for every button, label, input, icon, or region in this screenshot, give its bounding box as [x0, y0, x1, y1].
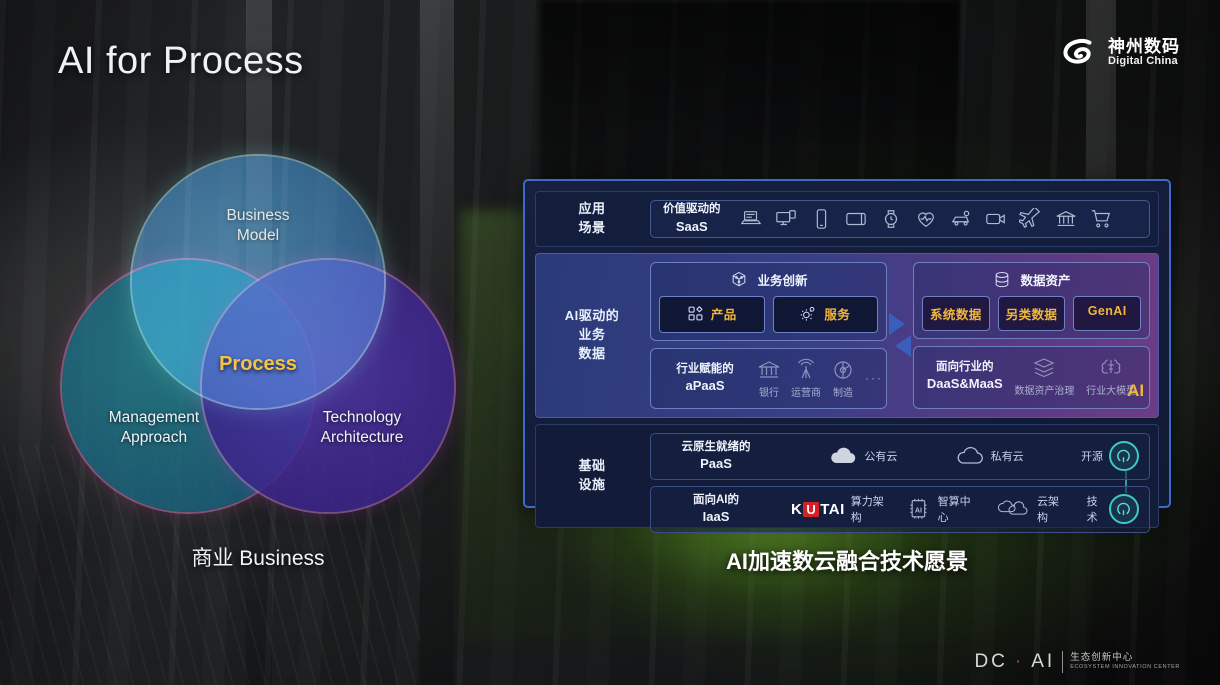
label-daas-maas: 面向行业的 DaaS&MaaS	[927, 360, 1003, 393]
band-title-ai-data: AI驱动的 业务 数据	[540, 262, 644, 409]
label-cloud-native-paas: 云原生就绪的 PaaS	[661, 440, 771, 473]
venn-label-management-line1: Management	[109, 409, 199, 426]
venn-center-label: Process	[192, 326, 324, 402]
band-title-application: 应用 场景	[540, 200, 644, 238]
svg-text:AI: AI	[915, 507, 922, 515]
infra-row-iaas: 面向AI的 IaaS KUTAI 算力架构 AI 智算中心	[650, 486, 1150, 533]
cloud-outline-icon	[955, 445, 985, 467]
daas-label-line1: 面向行业的	[927, 360, 1003, 376]
band-title-line2: 场景	[578, 220, 605, 235]
ai-chip-icon: AI	[905, 498, 932, 520]
industry-llm-ai-suffix: AI	[1127, 381, 1144, 401]
chip-service[interactable]: 服务	[773, 296, 879, 333]
footer-center-cn: 生态创新中心	[1070, 653, 1180, 664]
infra-public-cloud: 公有云	[828, 445, 897, 467]
open-source-icon	[1109, 494, 1139, 524]
infra-title-line1: 基础	[578, 458, 605, 473]
chip-product[interactable]: 产品	[659, 296, 765, 333]
ai-band-title-line2: 业务	[578, 327, 605, 342]
shopping-cart-icon	[1089, 208, 1113, 230]
mini-operator: 运营商	[791, 358, 821, 399]
airplane-icon	[1019, 208, 1043, 230]
band-application-scenarios: 应用 场景 价值驱动的 SaaS	[535, 191, 1159, 247]
footer-dc: DC	[974, 651, 1007, 673]
infra-ai-compute-center: AI 智算中心	[905, 493, 977, 525]
mini-governance-label: 数据资产治理	[1014, 382, 1074, 397]
venn-label-technology-line2: Architecture	[321, 429, 404, 446]
saas-label-line2: SaaS	[663, 218, 721, 236]
infra-row-paas: 云原生就绪的 PaaS 公有云 私有云 开源	[650, 433, 1150, 480]
panel-business-innovation: 业务创新 产品	[650, 262, 887, 341]
cloud-arch-label: 云架构	[1037, 493, 1067, 525]
architecture-caption: AI加速数云融合技术愿景	[523, 544, 1171, 576]
infra-technology: 技术	[1087, 493, 1139, 525]
multi-cloud-icon	[997, 498, 1031, 520]
layered-data-icon	[1032, 356, 1056, 380]
chip-service-label: 服务	[824, 304, 850, 323]
more-dots: ···	[865, 371, 883, 385]
band-infrastructure: 基础 设施 云原生就绪的 PaaS 公有云 私有云	[535, 424, 1159, 528]
saas-label-line1: 价值驱动的	[663, 202, 721, 218]
gears-icon	[800, 305, 817, 322]
footer-logo: DC · AI 生态创新中心 ECOSYSTEM INNOVATION CENT…	[974, 651, 1180, 673]
infra-cloud-arch: 云架构	[997, 493, 1067, 525]
swirl-logo-icon	[1061, 36, 1099, 70]
label-ai-oriented-iaas: 面向AI的 IaaS	[661, 493, 771, 526]
iaas-label-line2: IaaS	[661, 508, 771, 526]
ai-compute-center-label: 智算中心	[938, 493, 977, 525]
panel-industry-apaas: 行业赋能的 aPaaS 银行 运营商	[650, 348, 887, 409]
car-service-icon	[949, 208, 973, 230]
paas-label-line1: 云原生就绪的	[661, 440, 771, 456]
band-title-infrastructure: 基础 设施	[540, 433, 644, 519]
kutai-k: K	[791, 501, 802, 518]
mini-data-governance: 数据资产治理	[1014, 356, 1074, 397]
bank-icon	[1054, 208, 1078, 230]
bank-icon	[757, 358, 781, 382]
compute-arch-label: 算力架构	[851, 493, 885, 525]
desktop-monitor-icon	[774, 208, 798, 230]
chip-alternative-data[interactable]: 另类数据	[998, 296, 1066, 331]
smartwatch-icon	[879, 208, 903, 230]
heart-health-icon	[914, 208, 938, 230]
apaas-label-line2: aPaaS	[663, 377, 747, 395]
database-icon	[992, 270, 1012, 290]
kutai-u: U	[803, 502, 819, 517]
venn-label-business-line1: Business	[227, 207, 290, 224]
opensource-label: 开源	[1081, 448, 1103, 464]
band-ai-driven-business-data: AI驱动的 业务 数据	[535, 253, 1159, 418]
ai-band-title-line3: 数据	[578, 346, 605, 361]
label-value-driven-saas: 价值驱动的 SaaS	[663, 202, 721, 235]
data-assets-title: 数据资产	[1020, 270, 1070, 289]
factory-gear-icon	[831, 358, 855, 382]
brain-network-icon	[1099, 356, 1123, 380]
chip-product-label: 产品	[711, 304, 737, 323]
chip-genai[interactable]: GenAI	[1073, 296, 1141, 331]
footer-dot: ·	[1015, 651, 1024, 673]
panel-data-assets: 数据资产 系统数据 另类数据 GenAI	[913, 262, 1150, 339]
video-camera-icon	[984, 208, 1008, 230]
band-title-line1: 应用	[578, 201, 605, 216]
brand-name-cn: 神州数码	[1108, 38, 1180, 56]
public-cloud-label: 公有云	[864, 448, 897, 464]
apaas-label-line1: 行业赋能的	[663, 362, 747, 378]
panel-value-driven-saas: 价值驱动的 SaaS	[650, 200, 1150, 238]
daas-label-line2: DaaS&MaaS	[927, 375, 1003, 393]
infra-kutai-compute: KUTAI 算力架构	[791, 493, 885, 525]
signal-tower-icon	[794, 358, 818, 382]
footer-divider	[1062, 651, 1063, 673]
venn-label-technology-line1: Technology	[323, 409, 401, 426]
chip-system-data[interactable]: 系统数据	[922, 296, 990, 331]
cube-network-icon	[729, 270, 749, 290]
bidirectional-arrow-icon	[887, 307, 913, 363]
architecture-diagram: 应用 场景 价值驱动的 SaaS	[523, 179, 1171, 508]
kutai-logo: KUTAI	[791, 501, 845, 518]
mini-bank: 银行	[757, 358, 781, 399]
venn-caption: 商业 Business	[62, 542, 454, 572]
open-source-icon	[1109, 441, 1139, 471]
venn-diagram: Management Approach Technology Architect…	[62, 156, 454, 512]
mini-bank-label: 银行	[759, 384, 779, 399]
private-cloud-label: 私有云	[991, 448, 1024, 464]
paas-label-line2: PaaS	[661, 455, 771, 473]
kutai-tai: TAI	[820, 501, 845, 518]
iaas-label-line1: 面向AI的	[661, 493, 771, 509]
footer-center-en: ECOSYSTEM INNOVATION CENTER	[1070, 664, 1180, 670]
mini-manufacturing: 制造	[831, 358, 855, 399]
infra-opensource: 开源	[1081, 441, 1139, 471]
infra-private-cloud: 私有云	[955, 445, 1024, 467]
smartphone-icon	[809, 208, 833, 230]
brand-name-en: Digital China	[1108, 56, 1180, 68]
brand-logo: 神州数码 Digital China	[1061, 36, 1180, 70]
mini-operator-label: 运营商	[791, 384, 821, 399]
label-industry-apaas: 行业赋能的 aPaaS	[663, 362, 747, 395]
tablet-icon	[844, 208, 868, 230]
grid-blocks-icon	[687, 305, 704, 322]
cloud-filled-icon	[828, 445, 858, 467]
page-title: AI for Process	[58, 40, 304, 83]
mini-manufacturing-label: 制造	[833, 384, 853, 399]
ai-band-title-line1: AI驱动的	[565, 308, 620, 323]
laptop-print-icon	[739, 208, 763, 230]
business-innovation-title: 业务创新	[757, 270, 807, 289]
technology-label: 技术	[1087, 493, 1103, 525]
venn-label-business-line2: Model	[237, 227, 279, 244]
infra-title-line2: 设施	[578, 477, 605, 492]
venn-label-management-line2: Approach	[121, 429, 187, 446]
panel-daas-maas: 面向行业的 DaaS&MaaS 数据资产治理 行业大模型 AI	[913, 346, 1150, 409]
footer-ai: AI	[1031, 651, 1055, 673]
mini-industry-llm: 行业大模型 AI	[1086, 356, 1136, 397]
application-icon-row	[731, 208, 1138, 230]
band-connector	[887, 262, 913, 409]
